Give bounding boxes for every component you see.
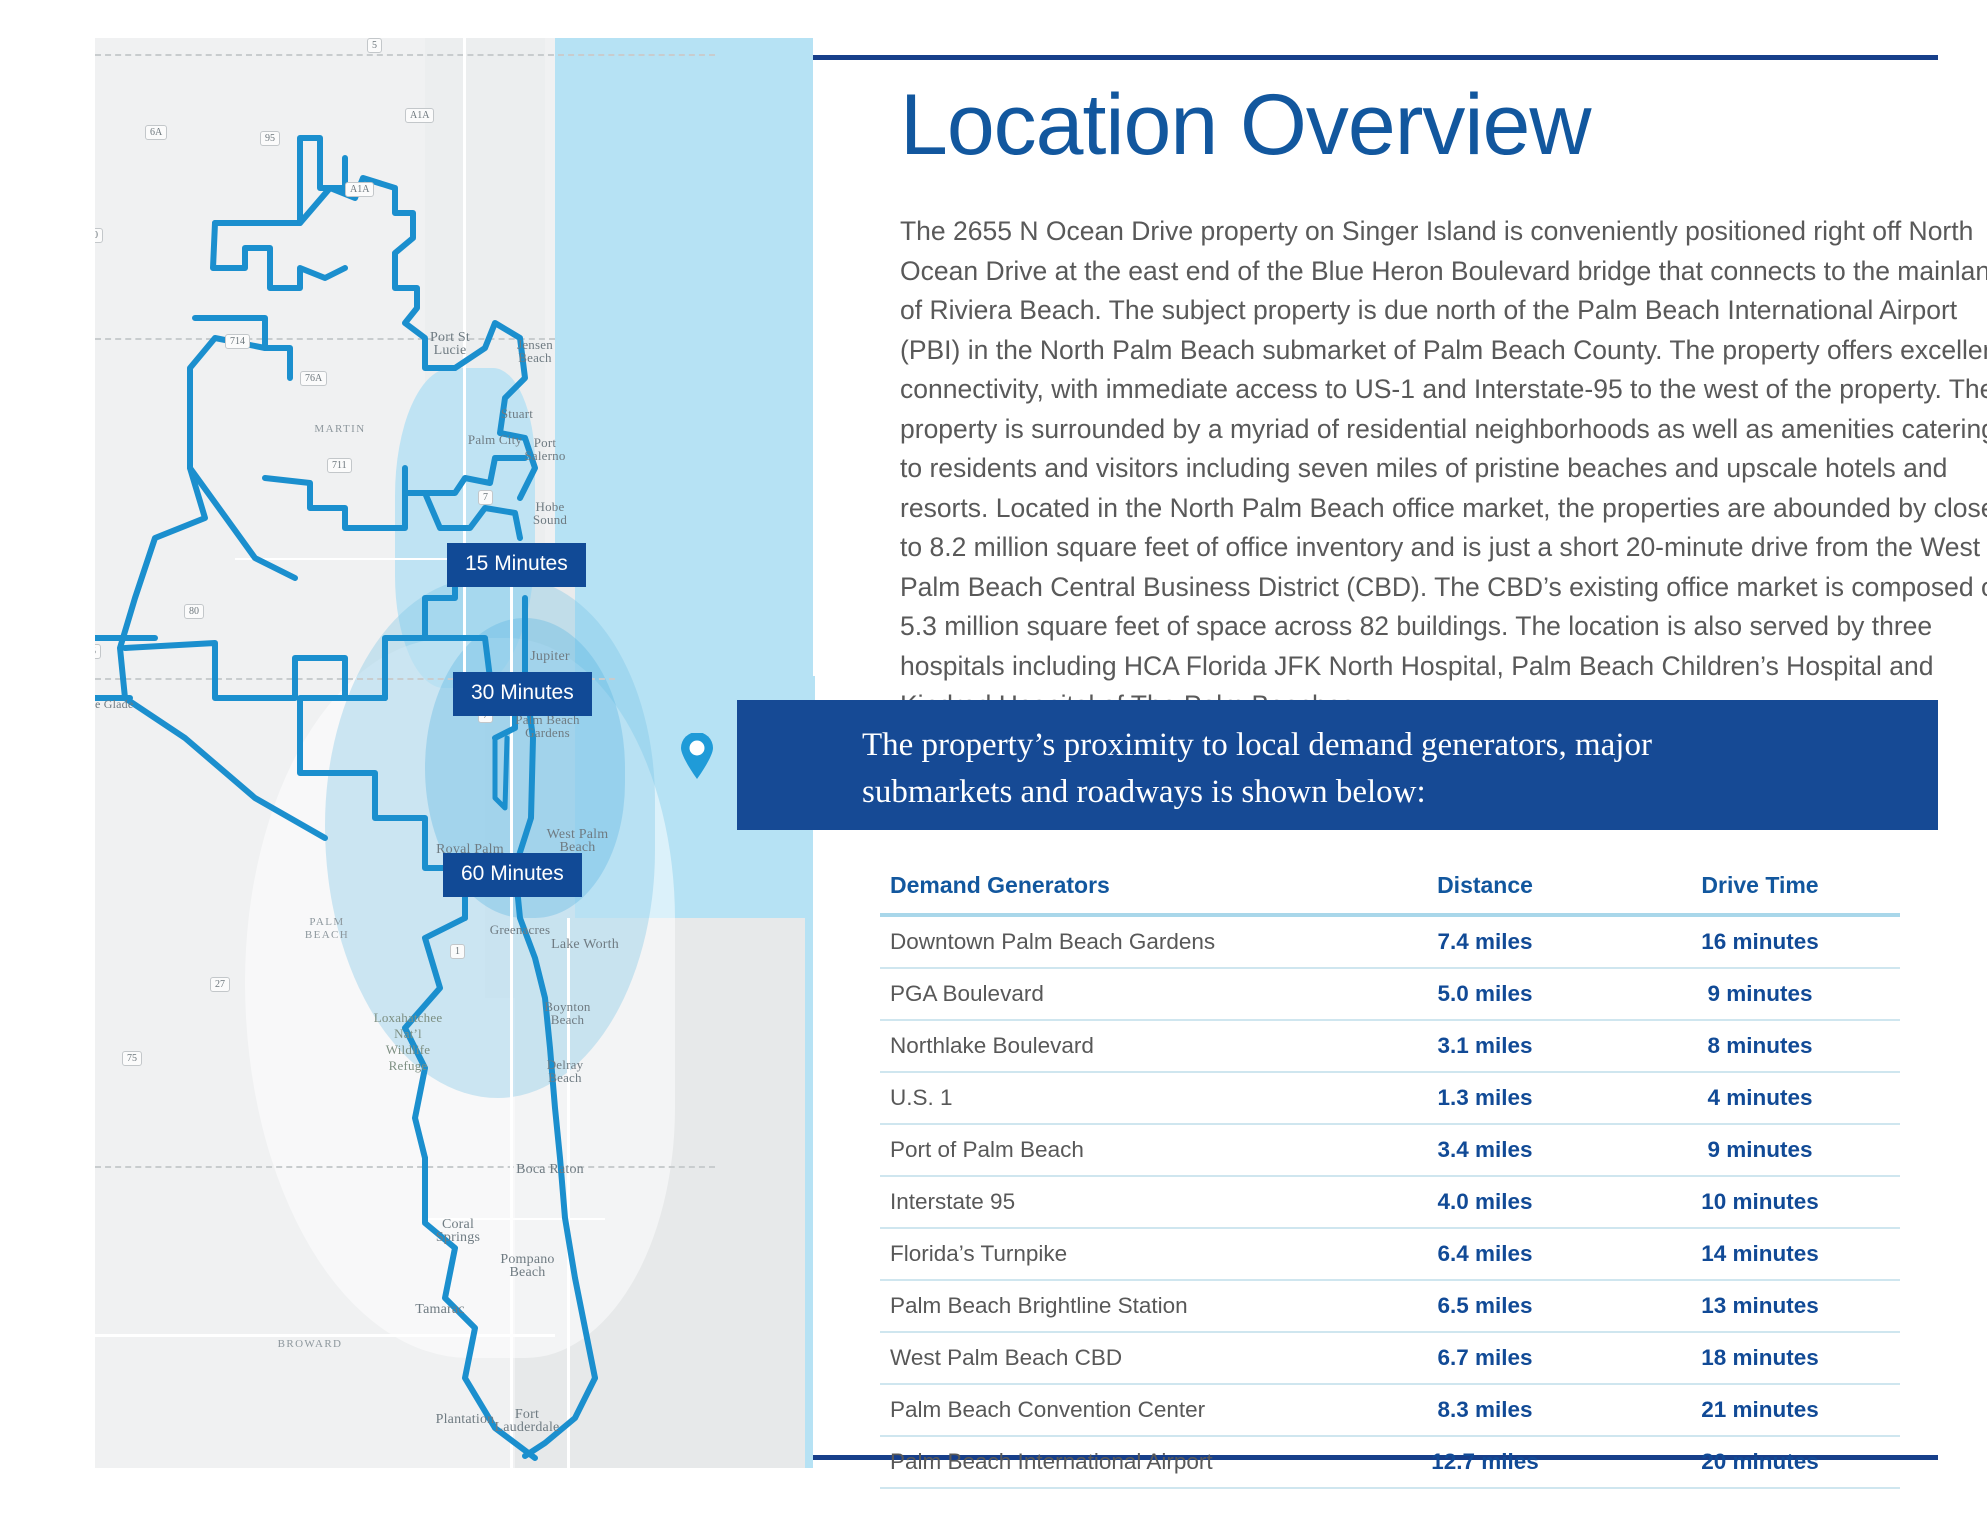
map-highway-shield: 5 bbox=[95, 644, 101, 659]
map-highway-shield: 711 bbox=[327, 458, 352, 473]
cell-distance: 7.4 miles bbox=[1350, 915, 1620, 968]
map-city-label: Stuart bbox=[477, 407, 557, 420]
map-city-label: Tamarac bbox=[395, 1303, 485, 1316]
page-title: Location Overview bbox=[900, 80, 1987, 170]
map-highway-shield: 5 bbox=[367, 38, 382, 53]
cell-distance: 6.7 miles bbox=[1350, 1332, 1620, 1384]
map-highway-shield: 70 bbox=[95, 228, 103, 243]
map-highway-shield: 6A bbox=[145, 125, 167, 140]
table-row: Florida’s Turnpike6.4 miles14 minutes bbox=[880, 1228, 1900, 1280]
map-highway-shield: 7 bbox=[478, 490, 493, 505]
table-row: PGA Boulevard5.0 miles9 minutes bbox=[880, 968, 1900, 1020]
table-header-distance: Distance bbox=[1350, 868, 1620, 915]
map-highway-shield: A1A bbox=[405, 108, 434, 123]
cell-distance: 3.4 miles bbox=[1350, 1124, 1620, 1176]
table-row: Palm Beach Brightline Station6.5 miles13… bbox=[880, 1280, 1900, 1332]
table-row: U.S. 11.3 miles4 minutes bbox=[880, 1072, 1900, 1124]
map-city-label: Lake Worth bbox=[535, 938, 635, 951]
drive-time-badge-60[interactable]: 60 Minutes bbox=[443, 853, 582, 897]
drive-time-badge-30[interactable]: 30 Minutes bbox=[453, 672, 592, 716]
cell-drive-time: 10 minutes bbox=[1620, 1176, 1900, 1228]
table-header-demand-generators: Demand Generators bbox=[880, 868, 1350, 915]
cell-demand-generator: Interstate 95 bbox=[880, 1176, 1350, 1228]
map-city-label: Port Salerno bbox=[505, 436, 585, 462]
cell-distance: 6.4 miles bbox=[1350, 1228, 1620, 1280]
cell-demand-generator: Palm Beach International Airport bbox=[880, 1436, 1350, 1488]
map-region-label: MARTIN bbox=[300, 423, 380, 436]
table-row: Palm Beach International Airport12.7 mil… bbox=[880, 1436, 1900, 1488]
callout-banner-text: The property’s proximity to local demand… bbox=[862, 722, 1922, 816]
cell-drive-time: 13 minutes bbox=[1620, 1280, 1900, 1332]
overview-paragraph: The 2655 N Ocean Drive property on Singe… bbox=[900, 212, 1987, 726]
cell-demand-generator: Northlake Boulevard bbox=[880, 1020, 1350, 1072]
table-header-drive-time: Drive Time bbox=[1620, 868, 1900, 915]
cell-drive-time: 21 minutes bbox=[1620, 1384, 1900, 1436]
cell-drive-time: 9 minutes bbox=[1620, 1124, 1900, 1176]
map-highway-shield: 75 bbox=[122, 1051, 142, 1066]
map-city-label: Palm Beach Gardens bbox=[495, 713, 600, 739]
map-highway-shield: A1A bbox=[345, 182, 374, 197]
map-city-label: Pompano Beach bbox=[480, 1253, 575, 1279]
map-highway-shield: 95 bbox=[260, 131, 280, 146]
map-city-label: Greenacres bbox=[470, 923, 570, 936]
map-park-label: Loxahatchee Nat’l Wildlife Refuge bbox=[353, 1010, 463, 1074]
map-city-label: Coral Springs bbox=[413, 1218, 503, 1244]
cell-demand-generator: Florida’s Turnpike bbox=[880, 1228, 1350, 1280]
map-city-label: Delray Beach bbox=[525, 1058, 605, 1084]
cell-demand-generator: Port of Palm Beach bbox=[880, 1124, 1350, 1176]
cell-drive-time: 16 minutes bbox=[1620, 915, 1900, 968]
map-highway-shield: 27 bbox=[210, 977, 230, 992]
table-row: Northlake Boulevard3.1 miles8 minutes bbox=[880, 1020, 1900, 1072]
map-highway-shield: 1 bbox=[450, 944, 465, 959]
map-region-label: PALM BEACH bbox=[287, 916, 367, 942]
cell-demand-generator: West Palm Beach CBD bbox=[880, 1332, 1350, 1384]
cell-drive-time: 20 minutes bbox=[1620, 1436, 1900, 1488]
map-city-label: Port St Lucie bbox=[395, 331, 505, 357]
cell-distance: 1.3 miles bbox=[1350, 1072, 1620, 1124]
table-row: Port of Palm Beach3.4 miles9 minutes bbox=[880, 1124, 1900, 1176]
map-city-label: Boynton Beach bbox=[525, 1000, 610, 1026]
cell-demand-generator: Downtown Palm Beach Gardens bbox=[880, 915, 1350, 968]
cell-distance: 12.7 miles bbox=[1350, 1436, 1620, 1488]
cell-distance: 5.0 miles bbox=[1350, 968, 1620, 1020]
map-region-label: BROWARD bbox=[260, 1338, 360, 1351]
drive-time-badge-15[interactable]: 15 Minutes bbox=[447, 543, 586, 587]
cell-distance: 4.0 miles bbox=[1350, 1176, 1620, 1228]
cell-distance: 3.1 miles bbox=[1350, 1020, 1620, 1072]
cell-drive-time: 14 minutes bbox=[1620, 1228, 1900, 1280]
cell-demand-generator: Palm Beach Convention Center bbox=[880, 1384, 1350, 1436]
cell-drive-time: 18 minutes bbox=[1620, 1332, 1900, 1384]
table-header-row: Demand Generators Distance Drive Time bbox=[880, 868, 1900, 915]
table-row: Downtown Palm Beach Gardens7.4 miles16 m… bbox=[880, 915, 1900, 968]
content-column: Location Overview The 2655 N Ocean Drive… bbox=[900, 80, 1987, 726]
cell-drive-time: 9 minutes bbox=[1620, 968, 1900, 1020]
map-city-label: Jensen Beach bbox=[490, 338, 580, 364]
map-city-label: Hobe Sound bbox=[510, 500, 590, 526]
table-row: West Palm Beach CBD6.7 miles18 minutes bbox=[880, 1332, 1900, 1384]
map-city-label: Boca Raton bbox=[495, 1163, 605, 1176]
demand-generators-table: Demand Generators Distance Drive Time Do… bbox=[880, 868, 1900, 1489]
cell-demand-generator: Palm Beach Brightline Station bbox=[880, 1280, 1350, 1332]
cell-distance: 6.5 miles bbox=[1350, 1280, 1620, 1332]
property-location-pin-icon[interactable] bbox=[680, 733, 714, 779]
cell-demand-generator: PGA Boulevard bbox=[880, 968, 1350, 1020]
map-highway-shield: 76A bbox=[300, 371, 327, 386]
cell-demand-generator: U.S. 1 bbox=[880, 1072, 1350, 1124]
cell-drive-time: 4 minutes bbox=[1620, 1072, 1900, 1124]
map-city-label: West Palm Beach bbox=[525, 828, 630, 854]
drive-time-map[interactable]: Port St Lucie Jensen Beach Stuart Palm C… bbox=[95, 38, 813, 1468]
map-water-label: e Glade bbox=[95, 698, 185, 711]
cell-distance: 8.3 miles bbox=[1350, 1384, 1620, 1436]
map-city-label: Fort Lauderdale bbox=[477, 1408, 577, 1434]
map-highway-shield: 714 bbox=[225, 334, 250, 349]
map-highway-shield: 80 bbox=[184, 604, 204, 619]
table-row: Palm Beach Convention Center8.3 miles21 … bbox=[880, 1384, 1900, 1436]
cell-drive-time: 8 minutes bbox=[1620, 1020, 1900, 1072]
table-row: Interstate 954.0 miles10 minutes bbox=[880, 1176, 1900, 1228]
map-city-label: Jupiter bbox=[505, 650, 595, 663]
